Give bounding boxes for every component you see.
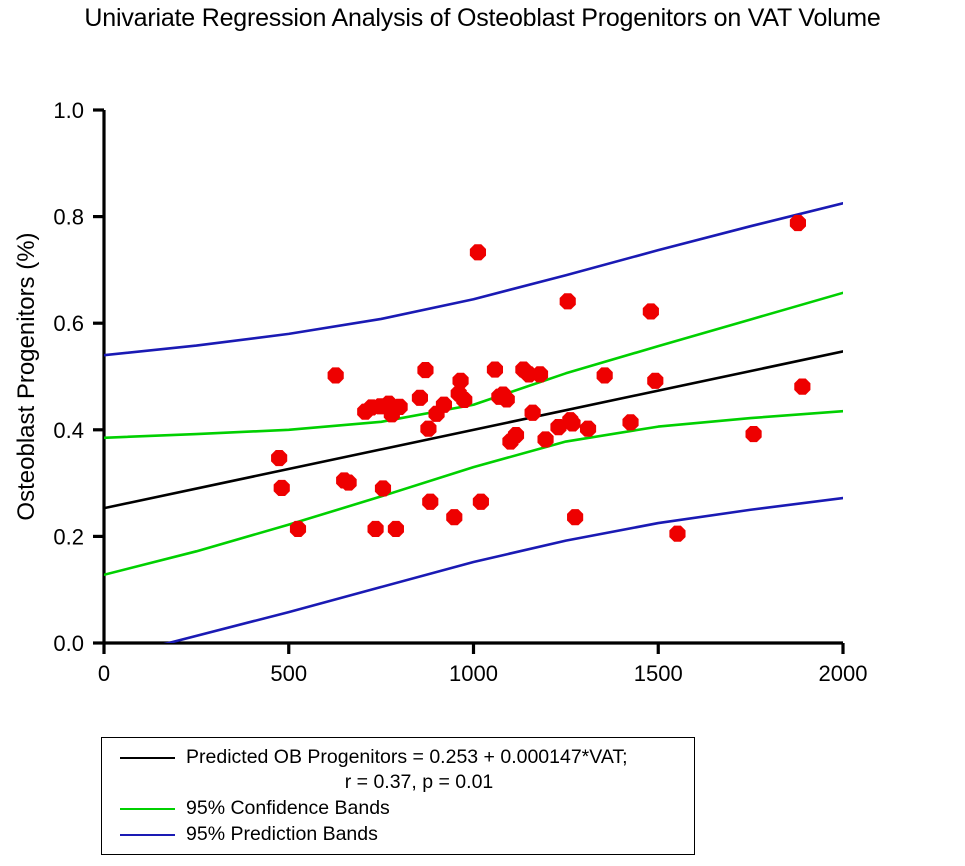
legend-label-prediction: 95% Prediction Bands: [186, 823, 378, 846]
y-axis-tick-label: 0.0: [53, 631, 84, 656]
legend-item-confidence: 95% Confidence Bands: [102, 797, 390, 820]
x-axis-tick-label: 2000: [819, 661, 868, 686]
regression-line-swatch-icon: [120, 757, 175, 759]
data-point: [597, 368, 612, 383]
data-point: [290, 521, 305, 536]
legend-item-regression: Predicted OB Progenitors = 0.253 + 0.000…: [102, 746, 628, 769]
data-point: [508, 428, 523, 443]
legend-label-regression: Predicted OB Progenitors = 0.253 + 0.000…: [186, 746, 628, 769]
data-point: [473, 494, 488, 509]
legend-label-stats: r = 0.37, p = 0.01: [102, 771, 696, 794]
data-point: [447, 510, 462, 525]
prediction-band-lower: [104, 498, 843, 659]
data-point: [795, 379, 810, 394]
confidence-band-upper: [104, 293, 843, 438]
legend: Predicted OB Progenitors = 0.253 + 0.000…: [101, 737, 695, 855]
axis-labels-layer: 0.00.20.40.60.81.00500100015002000VAT Vo…: [13, 98, 867, 695]
y-axis-tick-label: 0.4: [53, 418, 84, 443]
data-point: [487, 362, 502, 377]
data-point: [648, 373, 663, 388]
x-axis-tick-label: 1500: [634, 661, 683, 686]
data-point: [746, 426, 761, 441]
prediction-band-upper: [104, 203, 843, 355]
data-point: [436, 397, 451, 412]
data-point: [499, 392, 514, 407]
data-point: [421, 421, 436, 436]
data-point: [412, 390, 427, 405]
x-axis-tick-label: 0: [98, 661, 110, 686]
data-point: [423, 494, 438, 509]
confidence-band-swatch-icon: [120, 808, 175, 810]
data-point: [790, 215, 805, 230]
data-point: [643, 304, 658, 319]
regression-line: [104, 351, 843, 508]
prediction-band-swatch-icon: [120, 834, 175, 836]
data-point: [272, 450, 287, 465]
bands-layer: [104, 203, 843, 659]
page-title: Univariate Regression Analysis of Osteob…: [0, 4, 965, 33]
plot-area: 0.00.20.40.60.81.00500100015002000VAT Vo…: [0, 55, 965, 695]
scatter-plot-svg: 0.00.20.40.60.81.00500100015002000VAT Vo…: [0, 55, 965, 695]
data-point: [341, 475, 356, 490]
y-axis-tick-label: 0.6: [53, 311, 84, 336]
data-point: [457, 392, 472, 407]
regression-line: [104, 351, 843, 508]
data-point: [388, 521, 403, 536]
x-axis-tick-label: 1000: [449, 661, 498, 686]
legend-label-confidence: 95% Confidence Bands: [186, 797, 390, 820]
data-point: [538, 432, 553, 447]
data-point: [532, 367, 547, 382]
data-point: [368, 521, 383, 536]
data-point: [525, 405, 540, 420]
x-axis-tick-label: 500: [270, 661, 307, 686]
data-point: [453, 373, 468, 388]
data-point: [623, 415, 638, 430]
data-points-layer: [272, 215, 810, 541]
data-point: [418, 363, 433, 378]
legend-item-prediction: 95% Prediction Bands: [102, 823, 378, 846]
chart-page: Univariate Regression Analysis of Osteob…: [0, 0, 965, 866]
data-point: [560, 294, 575, 309]
y-axis-title: Osteoblast Progenitors (%): [13, 232, 40, 520]
data-point: [328, 368, 343, 383]
y-axis-tick-label: 0.8: [53, 205, 84, 230]
data-point: [580, 421, 595, 436]
data-point: [470, 245, 485, 260]
y-axis-tick-label: 0.2: [53, 524, 84, 549]
data-point: [568, 510, 583, 525]
data-point: [392, 399, 407, 414]
data-point: [274, 480, 289, 495]
data-point: [670, 526, 685, 541]
confidence-band-lower: [104, 411, 843, 575]
data-point: [565, 416, 580, 431]
data-point: [375, 481, 390, 496]
y-axis-tick-label: 1.0: [53, 98, 84, 123]
